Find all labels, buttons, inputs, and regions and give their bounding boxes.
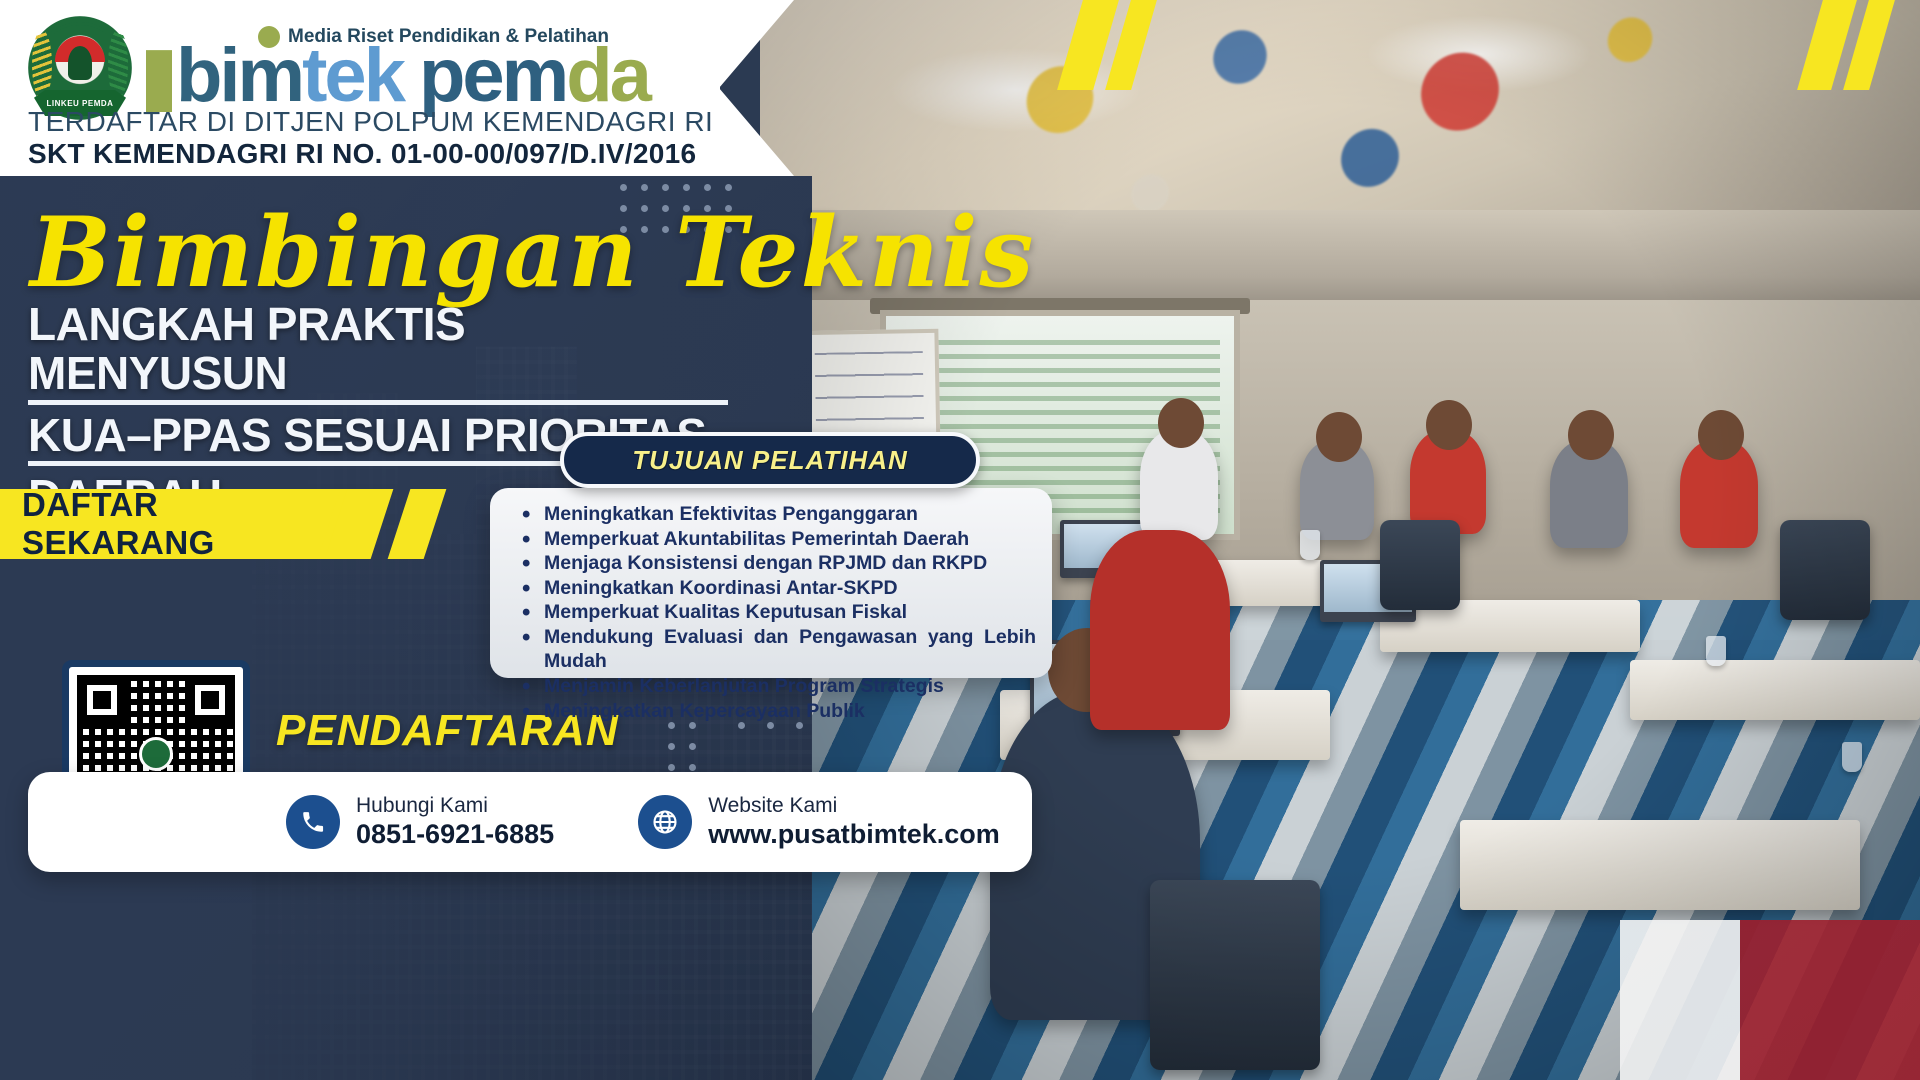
poster-root: LINKEU PEMDA Media Riset Pendidikan & Pe… (0, 0, 1920, 1080)
objective-item: Menjaga Konsistensi dengan RPJMD dan RKP… (520, 551, 1036, 576)
qr-finder-icon (79, 677, 125, 723)
objectives-title-pill: TUJUAN PELATIHAN (560, 432, 980, 488)
dot-grid-decoration (668, 722, 696, 771)
brand-logo-row: LINKEU PEMDA Media Riset Pendidikan & Pe… (28, 16, 649, 120)
website-label: Website Kami (708, 794, 1000, 818)
qr-center-logo-icon (139, 737, 173, 771)
crest-wheat-right (108, 30, 128, 100)
phone-label: Hubungi Kami (356, 794, 554, 818)
wordmark-da: da (566, 40, 649, 112)
wordmark-tek: tek (302, 40, 403, 112)
contact-phone[interactable]: Hubungi Kami 0851-6921-6885 (286, 794, 554, 851)
objective-item: Memperkuat Akuntabilitas Pemerintah Daer… (520, 527, 1036, 552)
cta-label: DAFTAR SEKARANG (22, 486, 345, 562)
wordmark-tick-icon (146, 50, 172, 112)
crest-wheat-left (32, 30, 52, 100)
phone-value: 0851-6921-6885 (356, 818, 554, 850)
contact-website-text: Website Kami www.pusatbimtek.com (708, 794, 1000, 851)
objective-item: Menjamin Keberlanjutan Program Strategis (520, 674, 1036, 699)
objectives-title: TUJUAN PELATIHAN (632, 445, 908, 476)
contact-phone-text: Hubungi Kami 0851-6921-6885 (356, 794, 554, 851)
phone-icon (286, 795, 340, 849)
objectives-list: Meningkatkan Efektivitas Penganggaran Me… (520, 502, 1036, 723)
globe-icon (638, 795, 692, 849)
objective-item: Meningkatkan Koordinasi Antar-SKPD (520, 576, 1036, 601)
objective-item: Mendukung Evaluasi dan Pengawasan yang L… (520, 625, 1036, 674)
script-title: Bimbingan Teknis (30, 196, 1035, 309)
flag-accent (1620, 920, 1920, 1080)
daftar-sekarang-button[interactable]: DAFTAR SEKARANG (0, 489, 345, 559)
crest-tree-icon (68, 46, 92, 80)
headline-line-1: LANGKAH PRAKTIS MENYUSUN (28, 300, 728, 405)
objective-item: Meningkatkan Kepercayaan Publik (520, 699, 1036, 724)
contact-website[interactable]: Website Kami www.pusatbimtek.com (638, 794, 1000, 851)
contact-bar: Hubungi Kami 0851-6921-6885 Website Kami… (28, 772, 1032, 872)
objective-item: Memperkuat Kualitas Keputusan Fiskal (520, 600, 1036, 625)
website-value: www.pusatbimtek.com (708, 818, 1000, 850)
registration-line-1: TERDAFTAR DI DITJEN POLPUM KEMENDAGRI RI (28, 106, 713, 138)
government-crest-icon: LINKEU PEMDA (28, 16, 132, 120)
wordmark-pem: pem (419, 40, 566, 112)
objectives-card: Meningkatkan Efektivitas Penganggaran Me… (490, 488, 1052, 678)
wordmark-bim: bim (176, 40, 302, 112)
registration-line-2: SKT KEMENDAGRI RI NO. 01-00-00/097/D.IV/… (28, 138, 696, 170)
qr-finder-icon (187, 677, 233, 723)
brand-block: Media Riset Pendidikan & Pelatihan bim t… (146, 24, 649, 112)
objective-item: Meningkatkan Efektivitas Penganggaran (520, 502, 1036, 527)
brand-wordmark: bim tek pem da (146, 40, 649, 112)
